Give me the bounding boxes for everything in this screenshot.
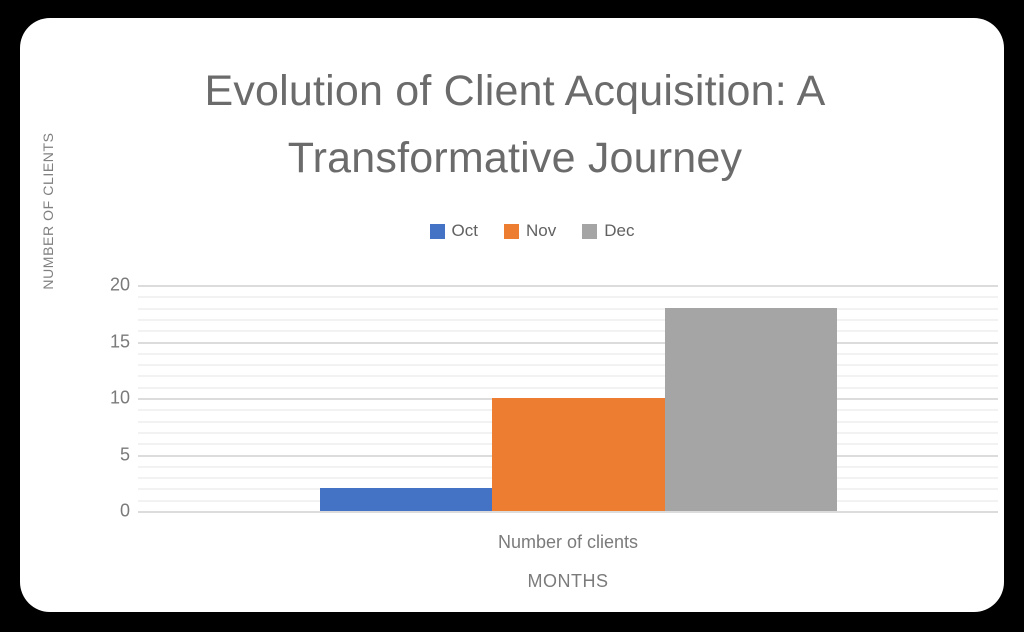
legend-swatch-dec-icon: [582, 224, 597, 239]
legend-swatch-nov-icon: [504, 224, 519, 239]
legend-entry-dec[interactable]: Dec: [582, 221, 634, 241]
legend-swatch-oct-icon: [430, 224, 445, 239]
chart-card: Evolution of Client Acquisition: A Trans…: [20, 18, 1004, 612]
y-axis-tick-label: 15: [110, 331, 130, 352]
y-axis-title: NUMBER OF CLIENTS: [40, 98, 66, 324]
legend-label: Oct: [452, 221, 478, 241]
chart-legend: OctNovDec: [20, 221, 1004, 241]
bar-nov[interactable]: [492, 398, 664, 511]
legend-label: Nov: [526, 221, 556, 241]
y-axis-tick-label: 10: [110, 388, 130, 409]
y-axis-tick-label: 20: [110, 275, 130, 296]
bar-dec[interactable]: [665, 308, 837, 511]
chart-title: Evolution of Client Acquisition: A Trans…: [110, 58, 920, 191]
legend-entry-nov[interactable]: Nov: [504, 221, 556, 241]
x-axis-title: MONTHS: [138, 571, 998, 592]
bars-layer: [138, 285, 998, 511]
plot-area: [138, 285, 998, 511]
slide-frame: Evolution of Client Acquisition: A Trans…: [0, 0, 1024, 632]
legend-entry-oct[interactable]: Oct: [430, 221, 478, 241]
x-axis-category-label: Number of clients: [138, 532, 998, 553]
bar-oct[interactable]: [320, 488, 492, 511]
y-axis-tick-label: 5: [120, 444, 130, 465]
legend-label: Dec: [604, 221, 634, 241]
gridline-major: [138, 511, 998, 513]
y-axis-ticks: 05101520: [90, 285, 130, 511]
y-axis-tick-label: 0: [120, 501, 130, 522]
